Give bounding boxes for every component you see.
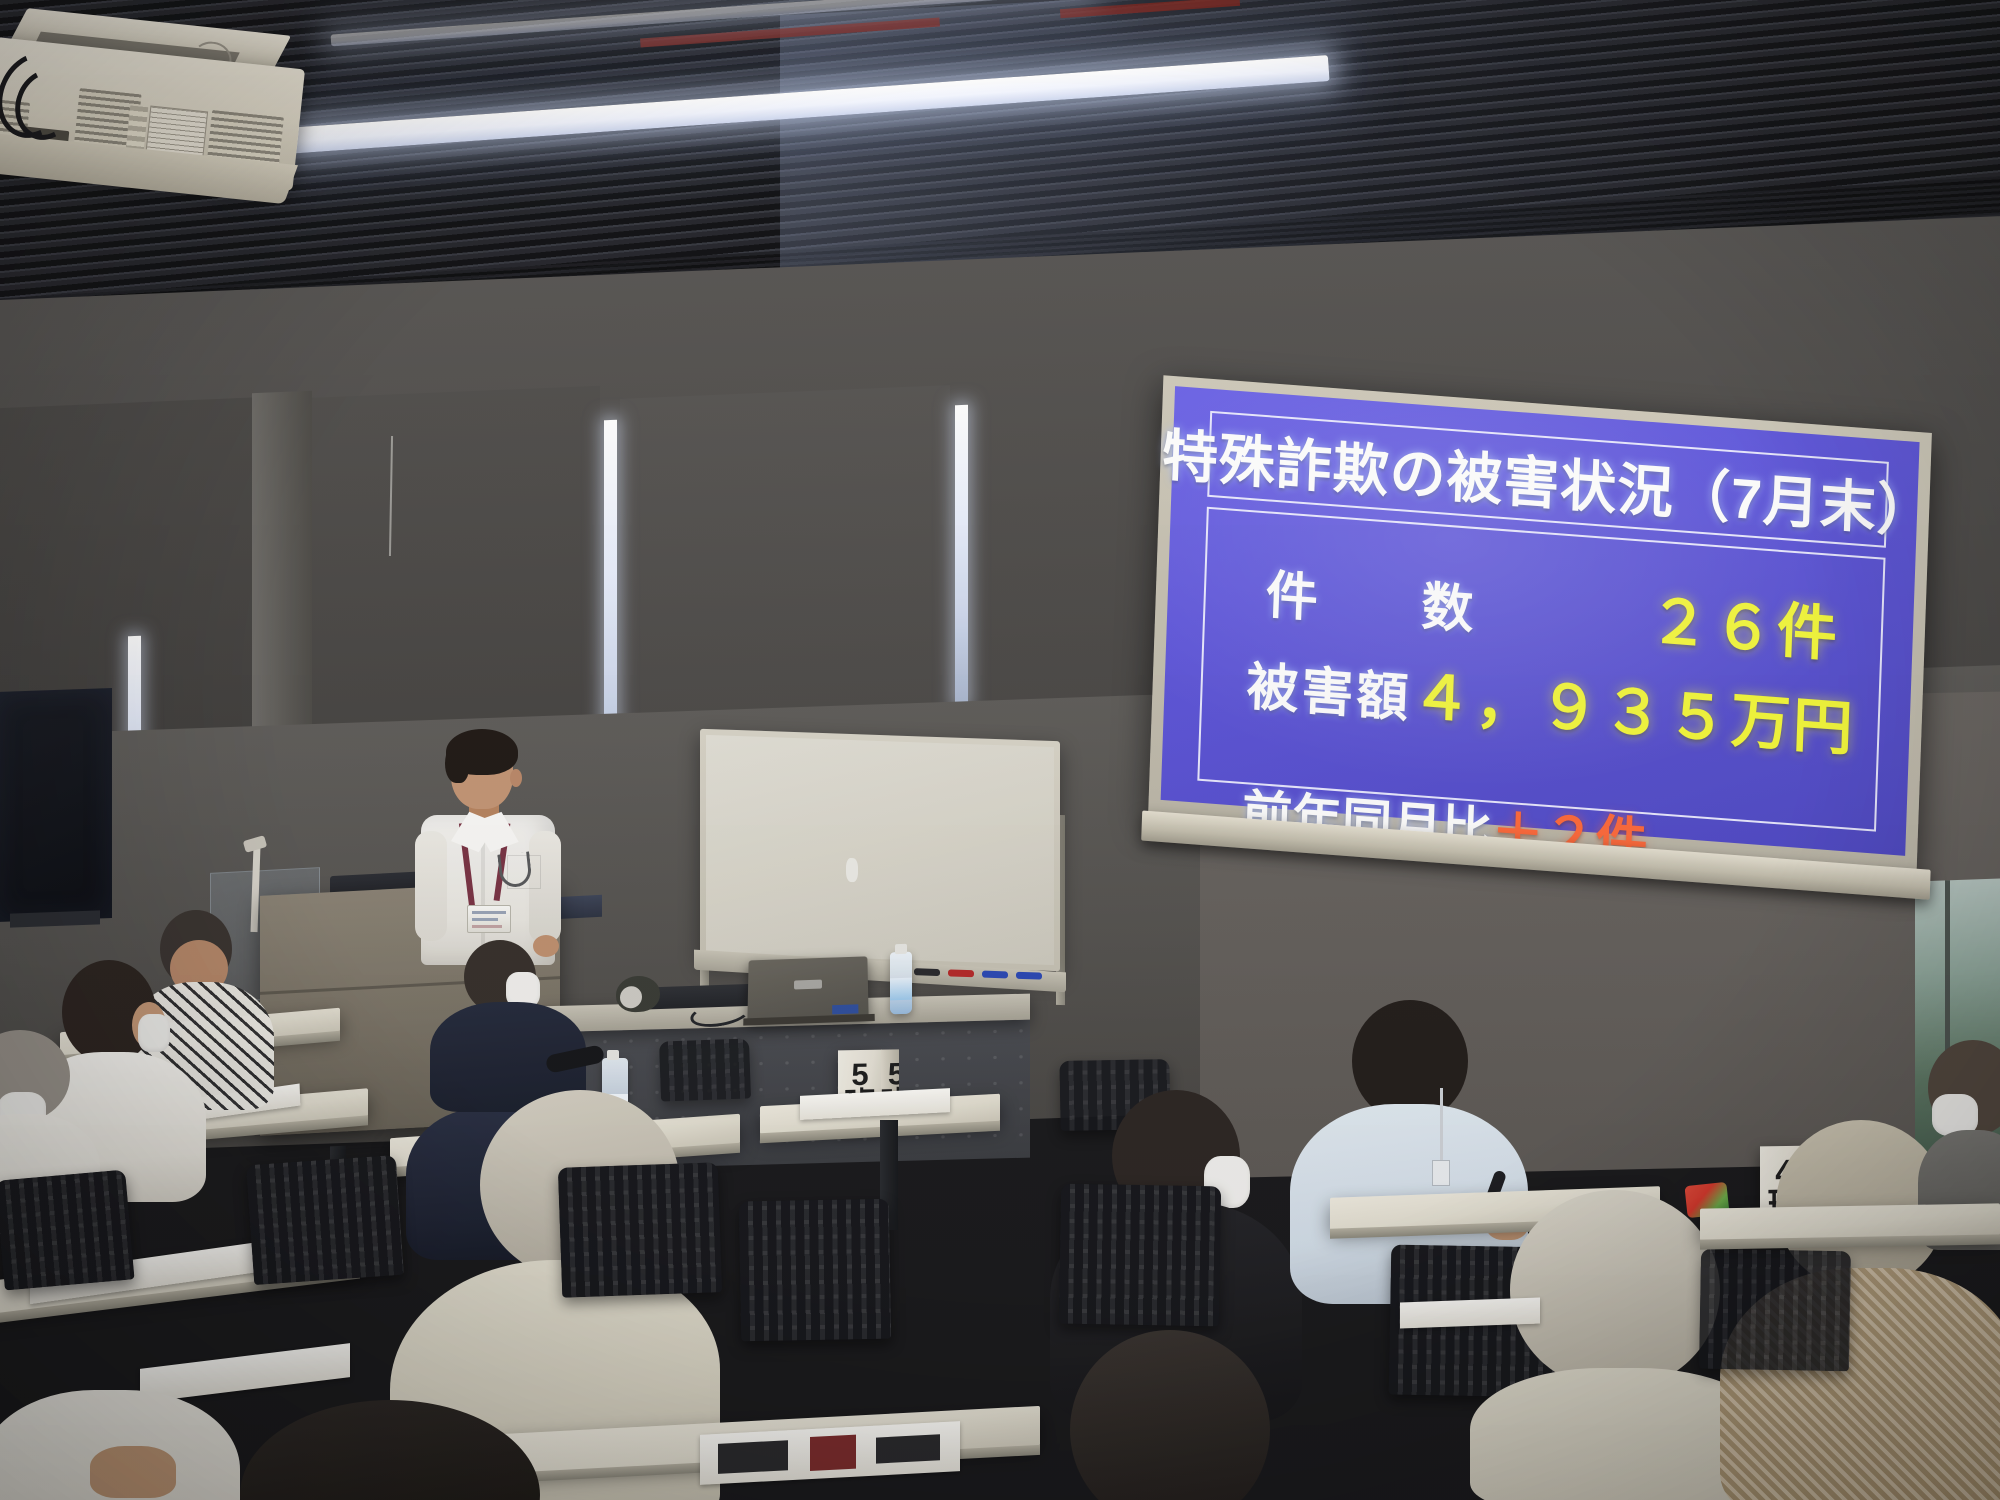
chair-left-far[interactable] [0,1170,135,1291]
whiteboard[interactable] [700,729,1060,972]
slide-content: 特殊詐欺の被害状況（7月末） 件 数 ２６ 件 被害額 ４，９３５ 万円 [1161,386,1920,856]
stat-unit-amount: 万円 [1729,672,1856,768]
bottle-cap [895,944,907,954]
chair-right-mid[interactable] [1059,1184,1221,1327]
marker-blue[interactable] [982,971,1008,979]
attendee-bottom-center [1010,1330,1330,1500]
presenter-laptop[interactable] [747,956,868,1022]
stat-value-amount: ４，９３５ [1410,648,1732,759]
bottle-label [890,978,912,1001]
presenter [415,735,565,965]
whiteboard-frame [700,729,1060,972]
attendee-bottom-left-head [240,1400,540,1500]
projector-buttons[interactable] [126,105,149,151]
bottle-cap-2 [607,1050,619,1060]
chair-far-right[interactable] [1699,1249,1851,1372]
attendee12-hand [90,1446,176,1498]
attendee-bottom-left-hands [0,1330,240,1500]
stat-label-cases: 件 数 [1265,552,1501,645]
wall-monitor[interactable] [0,688,112,922]
attendee8-id-badge [1432,1160,1450,1186]
attendee-navy-back [430,940,580,1100]
headphones-icon[interactable] [616,975,660,1013]
laptop-brand-mark [794,980,822,990]
presenter-arm-left [415,831,447,941]
attendee8-lanyard [1440,1088,1443,1166]
marker-blue-2[interactable] [1016,972,1042,980]
audience-table-far-right [1700,1203,2000,1240]
whiteboard-surface[interactable] [706,735,1054,965]
attendee14-hair [240,1400,540,1500]
presenter-hair-side [445,741,469,783]
slide-body-box: 件 数 ２６ 件 被害額 ４，９３５ 万円 前年同月比 ＋２件 [1197,507,1885,832]
laptop-sticker [832,1004,858,1014]
water-bottle-desk[interactable] [890,952,912,1015]
daylight-gap-right [955,405,968,706]
attendee9-hair [1510,1190,1720,1390]
stat-label-amount: 被害額 [1246,644,1413,731]
presenter-id-badge [467,905,511,933]
projector [0,13,327,207]
seminar-room-photo: 特殊詐欺の被害状況（7月末） 件 数 ２６ 件 被害額 ４，９３５ 万円 [0,0,2000,1500]
presenter-ear [510,769,522,787]
chair-center-right[interactable] [739,1199,891,1342]
marker-red[interactable] [948,969,974,977]
handout-right[interactable] [1400,1298,1540,1329]
whiteboard-smudge [846,858,858,882]
attendee2-face-mask [138,1014,170,1052]
chair-center[interactable] [558,1162,722,1298]
projection-screen: 特殊詐欺の被害状況（7月末） 件 数 ２６ 件 被害額 ４，９３５ 万円 [1148,375,1932,873]
headphone-cup [620,986,642,1009]
attendee13-hair [1070,1330,1270,1500]
screen-surface: 特殊詐欺の被害状況（7月末） 件 数 ２６ 件 被害額 ４，９３５ 万円 [1148,375,1932,873]
chair-left[interactable] [246,1155,404,1285]
stat-unit-cases: 件 [1776,582,1841,674]
marker-black[interactable] [914,968,940,976]
stat-value-cases: ２６ [1648,572,1779,669]
